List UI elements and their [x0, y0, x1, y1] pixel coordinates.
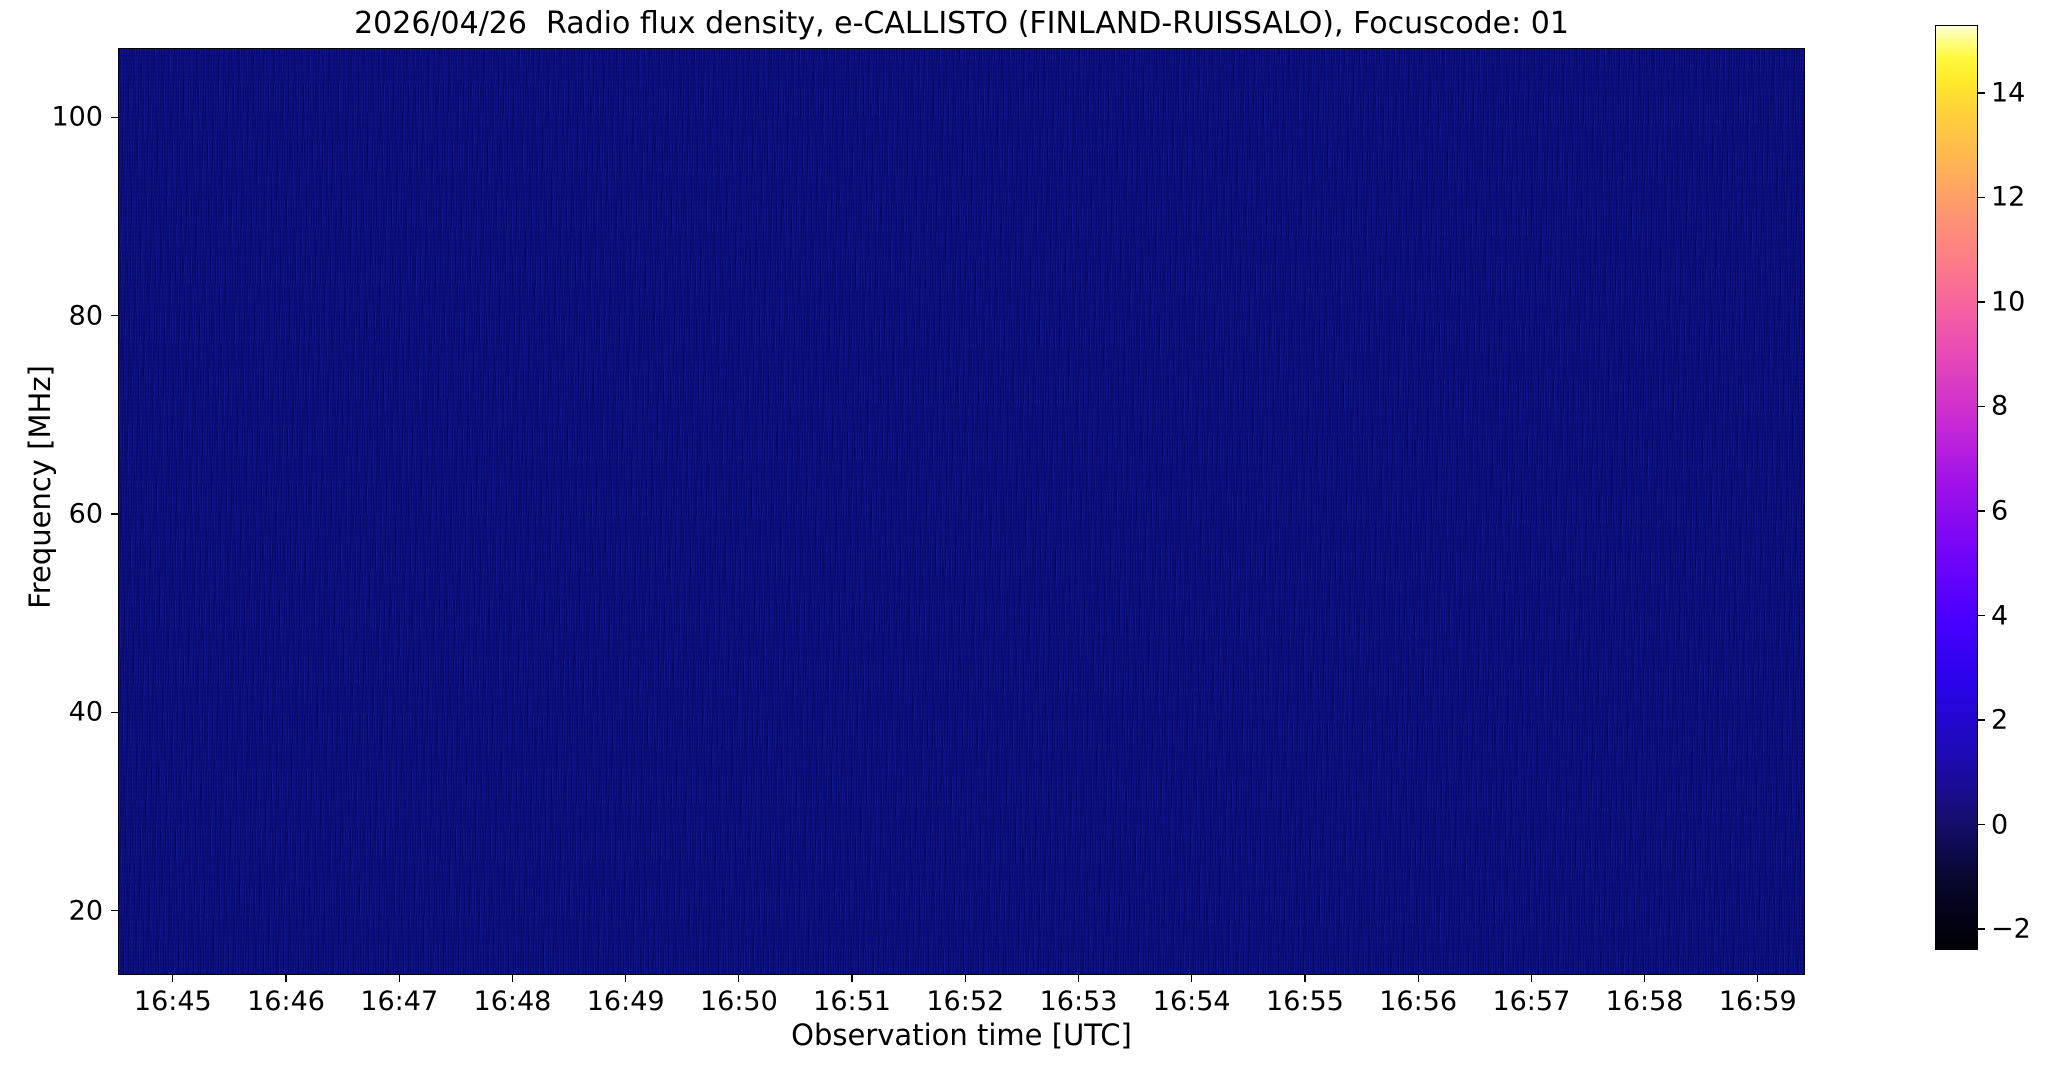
x-tick-label: 16:49: [587, 986, 665, 1017]
x-tick-label: 16:56: [1379, 986, 1457, 1017]
colorbar-tick-label: 12: [1991, 182, 2025, 213]
x-tick-mark: [1078, 975, 1079, 982]
y-tick-label: 100: [0, 102, 103, 133]
spectrogram-plot-area: [118, 48, 1805, 975]
colorbar-tick-label: 10: [1991, 286, 2025, 317]
x-tick-label: 16:57: [1492, 986, 1570, 1017]
spectrogram-noise-texture: [118, 48, 1805, 975]
y-axis-label: Frequency [MHz]: [23, 257, 57, 717]
colorbar-tick-label: 4: [1991, 600, 2008, 631]
x-tick-mark: [1644, 975, 1645, 982]
x-tick-label: 16:59: [1719, 986, 1797, 1017]
x-tick-label: 16:51: [813, 986, 891, 1017]
x-tick-label: 16:45: [134, 986, 212, 1017]
colorbar-tick-mark: [1978, 301, 1985, 302]
y-tick-mark: [111, 315, 118, 316]
x-tick-mark: [738, 975, 739, 982]
colorbar-tick-label: 14: [1991, 77, 2025, 108]
x-tick-mark: [1191, 975, 1192, 982]
colorbar-tick-mark: [1978, 510, 1985, 511]
x-tick-mark: [399, 975, 400, 982]
spectrogram-heatmap-image: [119, 49, 1804, 974]
colorbar-tick-mark: [1978, 406, 1985, 407]
y-tick-mark: [111, 513, 118, 514]
y-tick-mark: [111, 117, 118, 118]
colorbar-tick-label: 2: [1991, 705, 2008, 736]
x-tick-label: 16:46: [247, 986, 325, 1017]
x-tick-label: 16:55: [1266, 986, 1344, 1017]
colorbar-tick-mark: [1978, 719, 1985, 720]
x-tick-label: 16:54: [1153, 986, 1231, 1017]
colorbar-tick-label: 0: [1991, 809, 2008, 840]
y-tick-mark: [111, 910, 118, 911]
colorbar-tick-mark: [1978, 928, 1985, 929]
x-tick-label: 16:47: [360, 986, 438, 1017]
x-axis-label: Observation time [UTC]: [118, 1018, 1805, 1052]
x-tick-label: 16:53: [1040, 986, 1118, 1017]
colorbar-tick-mark: [1978, 824, 1985, 825]
colorbar-tick-label: 8: [1991, 391, 2008, 422]
colorbar-tick-label: −2: [1991, 914, 2031, 945]
colorbar-tick-mark: [1978, 615, 1985, 616]
x-tick-mark: [1304, 975, 1305, 982]
page-title: 2026/04/26 Radio flux density, e-CALLIST…: [118, 4, 1805, 44]
colorbar-gradient: [1936, 26, 1977, 949]
colorbar: [1935, 25, 1978, 950]
x-tick-label: 16:48: [474, 986, 552, 1017]
y-tick-mark: [111, 712, 118, 713]
x-tick-mark: [965, 975, 966, 982]
x-tick-mark: [1418, 975, 1419, 982]
x-tick-mark: [512, 975, 513, 982]
x-tick-mark: [1531, 975, 1532, 982]
x-tick-label: 16:58: [1606, 986, 1684, 1017]
y-tick-label: 20: [0, 895, 103, 926]
spectrogram-figure: 2026/04/26 Radio flux density, e-CALLIST…: [0, 0, 2066, 1067]
x-tick-mark: [851, 975, 852, 982]
colorbar-tick-mark: [1978, 92, 1985, 93]
x-tick-mark: [1757, 975, 1758, 982]
x-tick-mark: [625, 975, 626, 982]
colorbar-tick-mark: [1978, 197, 1985, 198]
x-tick-label: 16:50: [700, 986, 778, 1017]
x-tick-mark: [172, 975, 173, 982]
x-tick-mark: [285, 975, 286, 982]
x-tick-label: 16:52: [926, 986, 1004, 1017]
colorbar-tick-label: 6: [1991, 496, 2008, 527]
